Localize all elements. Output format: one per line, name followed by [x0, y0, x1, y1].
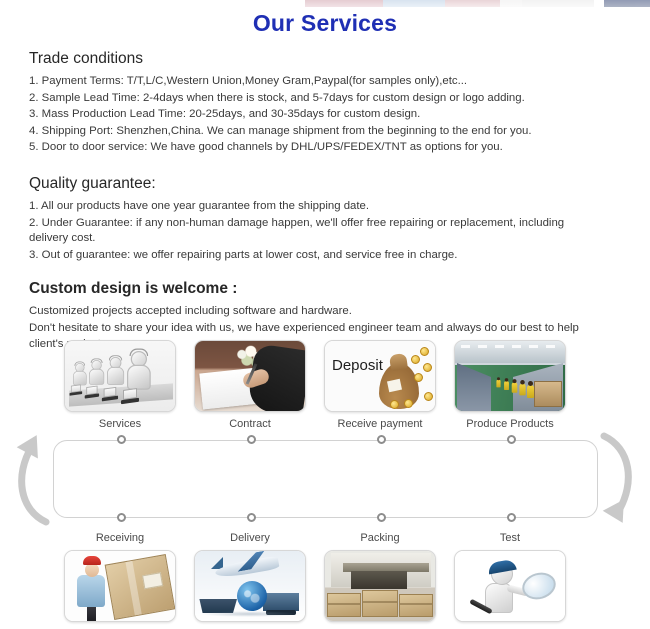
deposit-caption: Deposit: [332, 357, 383, 374]
flow-step-label: Receiving: [96, 532, 144, 544]
flow-step-label: Produce Products: [466, 418, 553, 430]
flow-step-label: Test: [500, 532, 520, 544]
trade-line-4: 4. Shipping Port: Shenzhen,China. We can…: [29, 124, 604, 140]
flow-step-packing[interactable]: Packing: [315, 532, 445, 622]
flow-step-label: Receive payment: [338, 418, 423, 430]
content-body: Trade conditions 1. Payment Terms: T/T,L…: [29, 50, 604, 353]
logistics-plane-globe-ship-photo: [194, 550, 306, 622]
trade-line-5: 5. Door to door service: We have good ch…: [29, 140, 604, 156]
custom-line-1: Customized projects accepted including s…: [29, 304, 604, 320]
section-heading: Custom design is welcome :: [29, 280, 604, 298]
flow-node: [117, 435, 126, 444]
flow-step-label: Packing: [360, 532, 399, 544]
flow-bottom-row: Receiving Delivery: [0, 532, 650, 622]
quality-line-2: 2. Under Guarantee: if any non-human dam…: [29, 216, 604, 247]
section-heading: Quality guarantee:: [29, 175, 604, 193]
flow-step-contract[interactable]: Contract: [185, 340, 315, 430]
flow-step-services[interactable]: Services: [55, 340, 185, 430]
flow-step-receiving[interactable]: Receiving: [55, 532, 185, 622]
flow-node: [117, 513, 126, 522]
contract-signing-photo: [194, 340, 306, 412]
flow-node: [507, 513, 516, 522]
trade-line-1: 1. Payment Terms: T/T,L/C,Western Union,…: [29, 74, 604, 90]
flow-node: [247, 435, 256, 444]
factory-production-line-photo: [454, 340, 566, 412]
flow-top-row: Services Contract Deposit: [0, 340, 650, 430]
flow-step-delivery[interactable]: Delivery: [185, 532, 315, 622]
section-heading: Trade conditions: [29, 50, 604, 68]
flow-step-test[interactable]: Test: [445, 532, 575, 622]
quality-line-3: 3. Out of guarantee: we offer repairing …: [29, 248, 604, 264]
quality-line-1: 1. All our products have one year guaran…: [29, 199, 604, 215]
flow-node: [507, 435, 516, 444]
trade-line-3: 3. Mass Production Lead Time: 20-25days,…: [29, 107, 604, 123]
magnifier-inspection-figure-photo: [454, 550, 566, 622]
flow-bottom-nodes: [0, 513, 650, 525]
deposit-money-sack-photo: Deposit: [324, 340, 436, 412]
top-image-sliver: [305, 0, 650, 7]
courier-carrying-box-photo: [64, 550, 176, 622]
process-flow-diagram: Services Contract Deposit: [0, 335, 650, 620]
flow-step-label: Contract: [229, 418, 271, 430]
flow-step-receive-payment[interactable]: Deposit Receive payment: [315, 340, 445, 430]
flow-step-produce-products[interactable]: Produce Products: [445, 340, 575, 430]
trade-line-2: 2. Sample Lead Time: 2-4days when there …: [29, 91, 604, 107]
stacked-cartons-warehouse-photo: [324, 550, 436, 622]
flow-track: [53, 440, 598, 518]
section-quality-guarantee: Quality guarantee: 1. All our products h…: [29, 175, 604, 263]
flow-node: [247, 513, 256, 522]
flow-top-nodes: [0, 435, 650, 447]
spacer: [29, 264, 604, 280]
section-trade-conditions: Trade conditions 1. Payment Terms: T/T,L…: [29, 50, 604, 156]
flow-step-label: Services: [99, 418, 141, 430]
flow-step-label: Delivery: [230, 532, 270, 544]
call-center-agents-photo: [64, 340, 176, 412]
flow-node: [377, 513, 386, 522]
flow-node: [377, 435, 386, 444]
spacer: [29, 157, 604, 175]
page-title: Our Services: [0, 10, 650, 37]
